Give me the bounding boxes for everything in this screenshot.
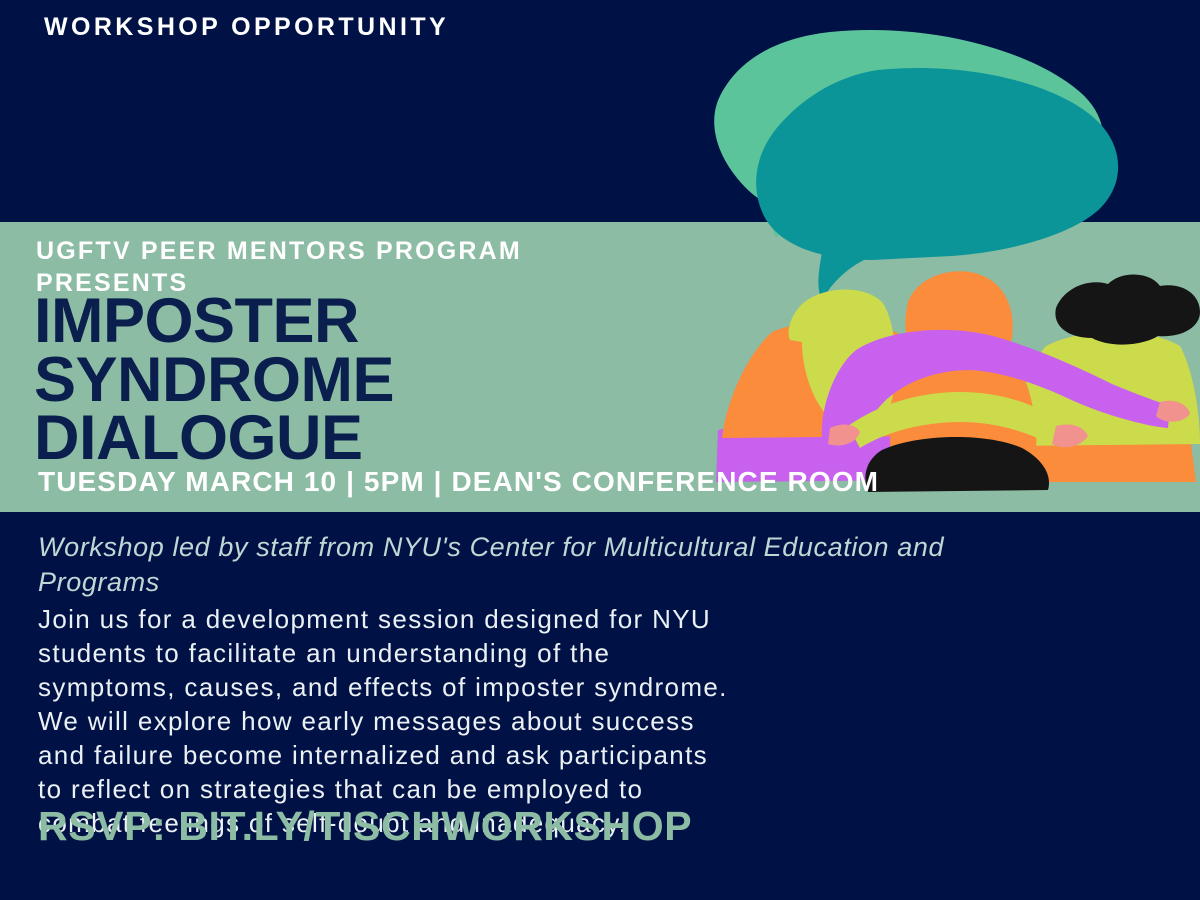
- title-line-2: SYNDROME: [34, 351, 394, 410]
- description-line: We will explore how early messages about…: [38, 704, 1173, 738]
- presenter-line-1: UGFTV PEER MENTORS PROGRAM: [36, 237, 522, 265]
- workshop-facilitator-note: Workshop led by staff from NYU's Center …: [38, 530, 1068, 600]
- description-line: to reflect on strategies that can be emp…: [38, 772, 1173, 806]
- kicker-workshop-opportunity: WORKSHOP OPPORTUNITY: [44, 13, 449, 42]
- description-line: symptoms, causes, and effects of imposte…: [38, 670, 1173, 704]
- poster-canvas: WORKSHOP OPPORTUNITY UGFTV PEER MENTORS …: [0, 0, 1200, 900]
- rsvp-link[interactable]: RSVP: BIT.LY/TISCHWORKSHOP: [38, 803, 692, 850]
- title-line-3: DIALOGUE: [34, 409, 394, 468]
- description-line: students to facilitate an understanding …: [38, 636, 1173, 670]
- title-line-1: IMPOSTER: [34, 292, 394, 351]
- description-line: Join us for a development session design…: [38, 602, 1173, 636]
- event-date-time-location: TUESDAY MARCH 10 | 5PM | DEAN'S CONFEREN…: [38, 466, 879, 498]
- page-title: IMPOSTER SYNDROME DIALOGUE: [34, 292, 394, 468]
- description-line: and failure become internalized and ask …: [38, 738, 1173, 772]
